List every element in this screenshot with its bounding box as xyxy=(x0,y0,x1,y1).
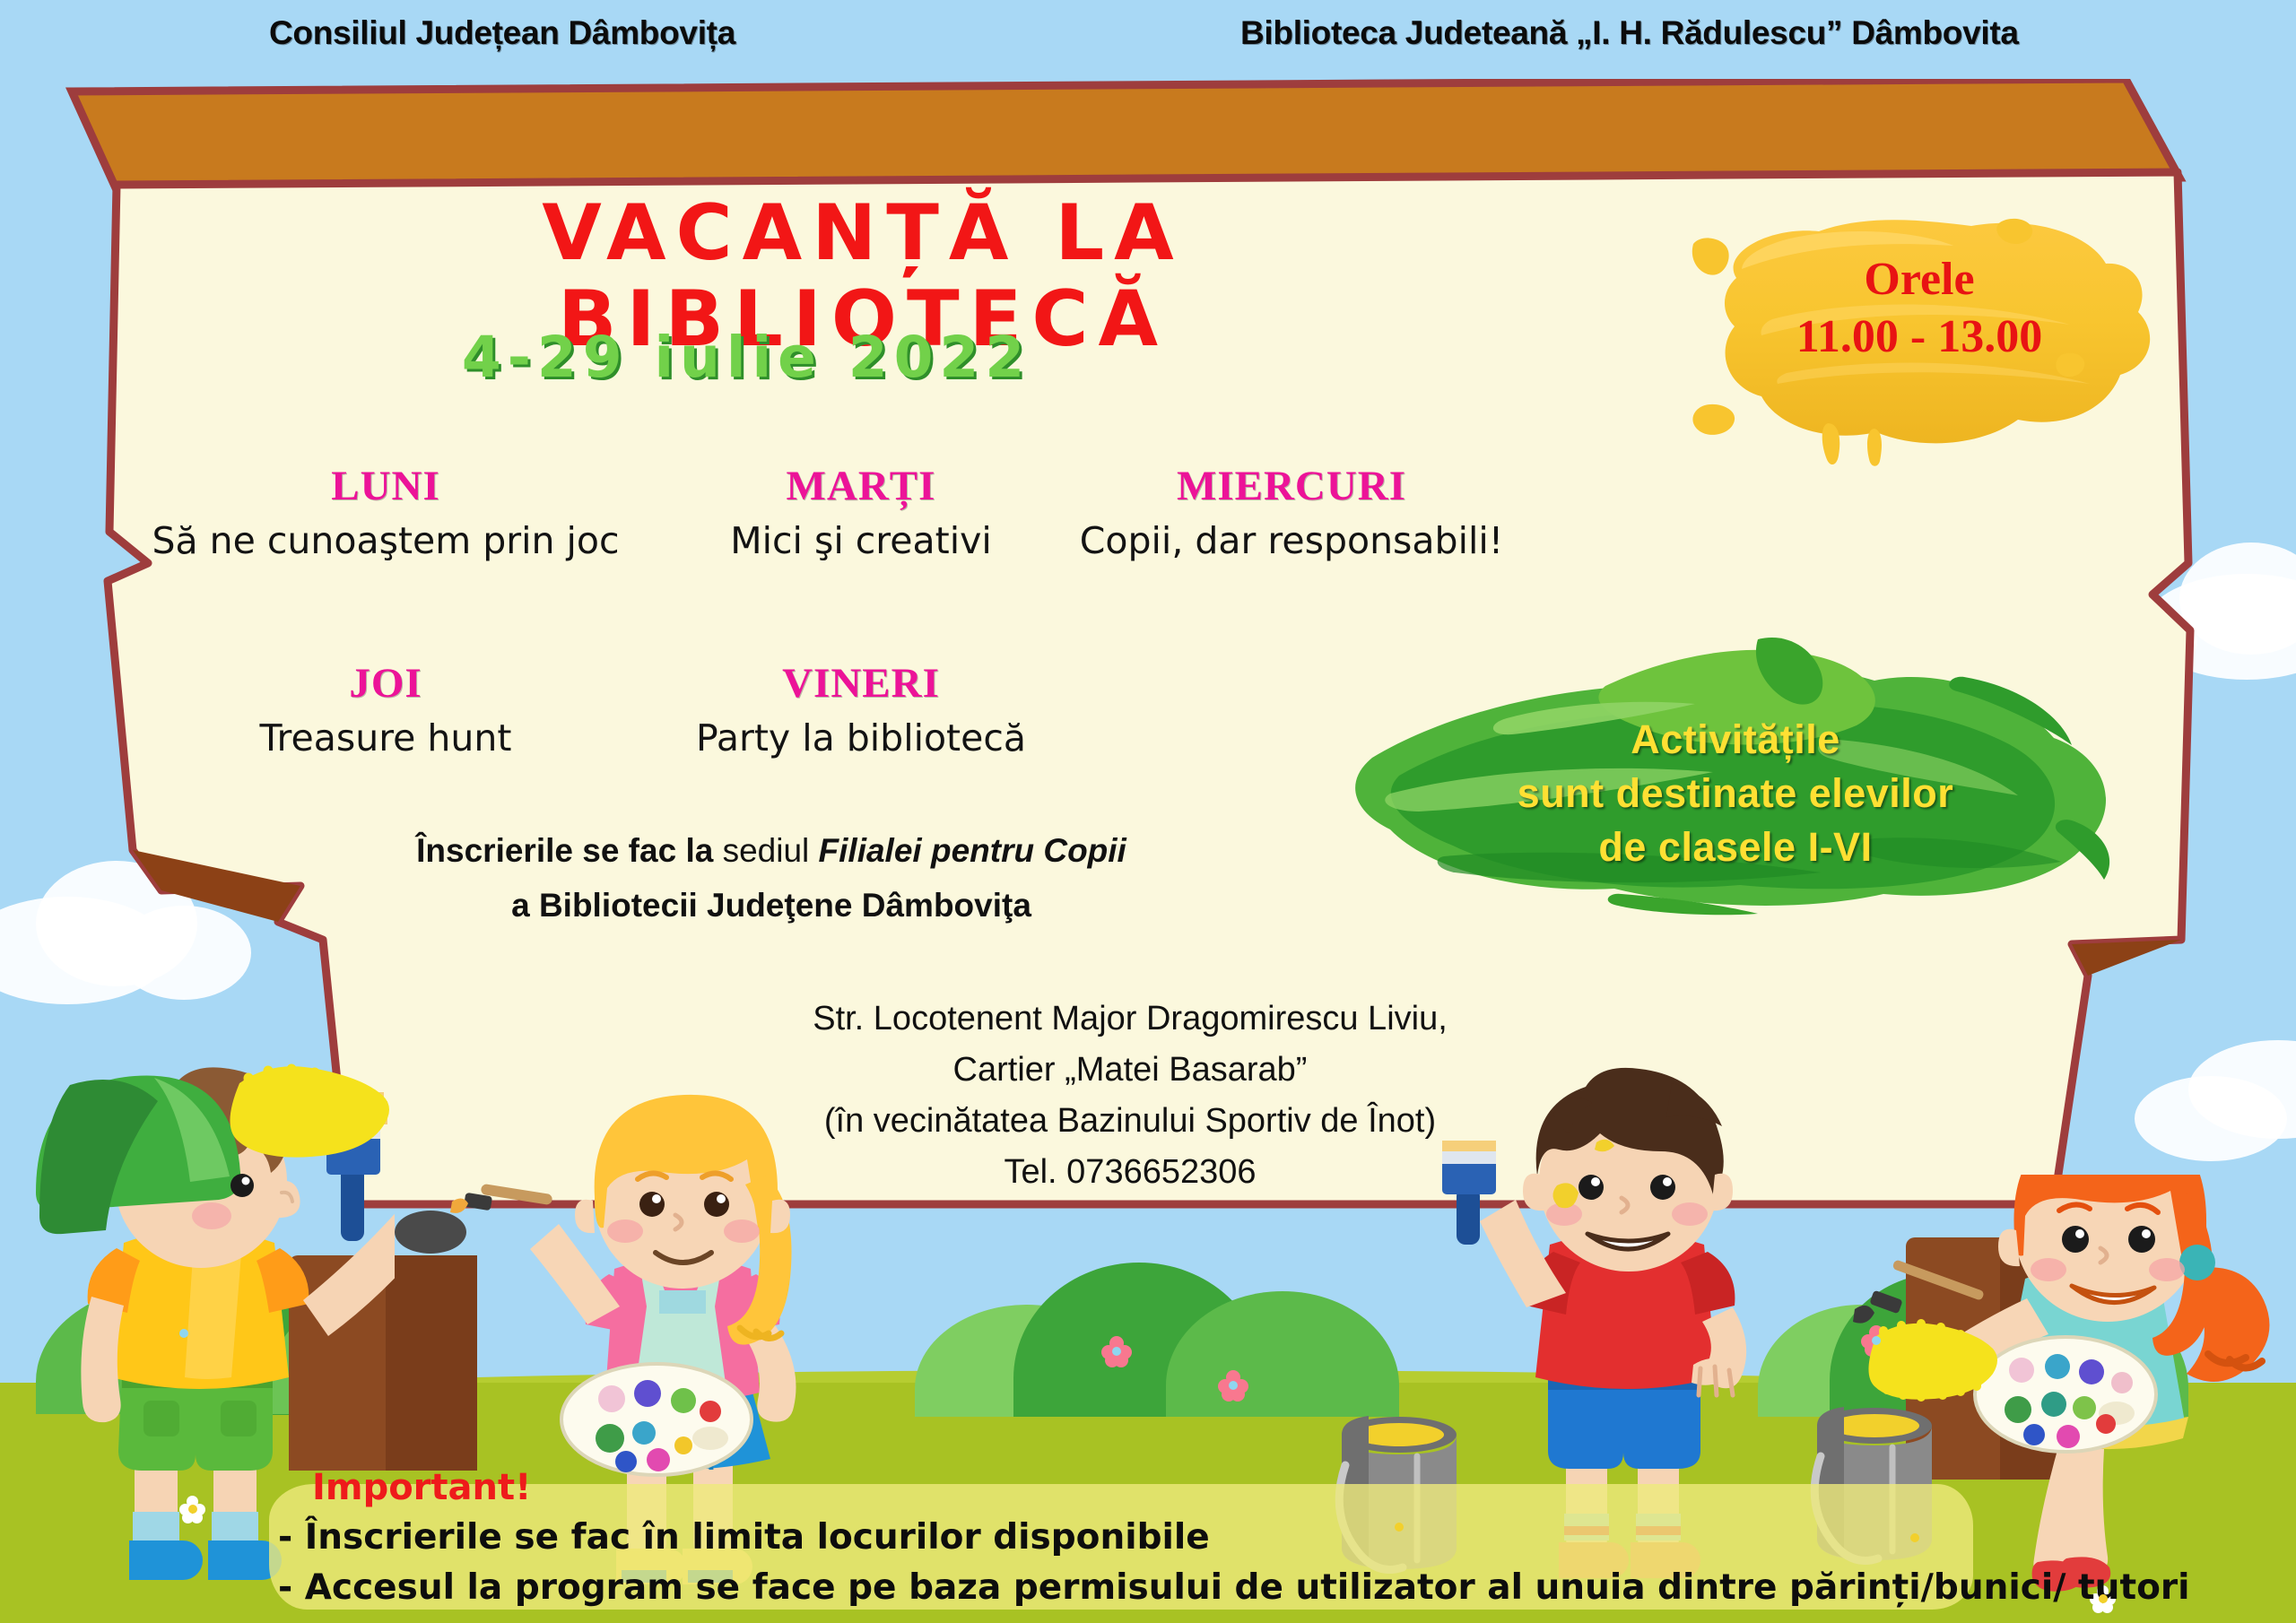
address-line-1: Str. Locotenent Major Dragomirescu Liviu… xyxy=(808,994,1452,1045)
day-name: VINERI xyxy=(664,659,1058,707)
important-line-1: - Înscrierile se fac în limita locurilor… xyxy=(278,1517,1210,1558)
audience-line-1: Activitățile xyxy=(1345,713,2126,767)
audience-text: Activitățile sunt destinate elevilor de … xyxy=(1345,713,2126,874)
day-activity: Treasure hunt xyxy=(108,716,664,759)
day-name: MARȚI xyxy=(664,462,1058,510)
registration-line-1: Înscrierile se fac la sediul Filialei pe… xyxy=(377,823,1166,878)
registration-line-1-bold: Înscrierile se fac la xyxy=(416,832,722,869)
yellow-paint-stroke-left xyxy=(229,1058,395,1166)
hours-value: 11.00 - 13.00 xyxy=(1731,308,2108,366)
paint-brush-girl-blonde xyxy=(448,1175,556,1237)
audience-line-3: de clasele I-VI xyxy=(1345,820,2126,874)
important-line-2: - Accesul la program se face pe baza per… xyxy=(278,1567,2189,1608)
day-name: LUNI xyxy=(108,462,664,510)
header-left-organization: Consiliul Județean Dâmbovița xyxy=(269,14,735,52)
schedule-item-marti: MARȚI Mici şi creativi xyxy=(664,462,1058,562)
schedule-item-luni: LUNI Să ne cunoaştem prin joc xyxy=(108,462,664,562)
day-activity: Copii, dar responsabili! xyxy=(1058,519,1525,562)
address-line-4-phone: Tel. 0736652306 xyxy=(999,1147,1260,1198)
paint-brush-blue-right xyxy=(1408,1139,1534,1246)
schedule-item-joi: JOI Treasure hunt xyxy=(108,659,664,759)
poster-canvas: Consiliul Județean Dâmbovița Biblioteca … xyxy=(0,0,2296,1623)
hours-label: Orele xyxy=(1731,251,2108,308)
day-activity: Să ne cunoaştem prin joc xyxy=(108,519,664,562)
paint-palette-girl-blonde xyxy=(558,1352,755,1487)
registration-line-1-italic: Filialei pentru Copii xyxy=(819,832,1126,869)
day-name: MIERCURI xyxy=(1058,462,1525,510)
address-block: Str. Locotenent Major Dragomirescu Liviu… xyxy=(789,994,1471,1198)
registration-line-2: a Bibliotecii Judeţene Dâmboviţa xyxy=(377,878,1166,933)
hours-text: Orele 11.00 - 13.00 xyxy=(1731,251,2108,367)
registration-block: Înscrierile se fac la sediul Filialei pe… xyxy=(377,823,1166,933)
address-line-3: (în vecinătatea Bazinului Sportiv de Îno… xyxy=(820,1096,1440,1147)
schedule-item-miercuri: MIERCURI Copii, dar responsabili! xyxy=(1058,462,1525,562)
audience-line-2: sunt destinate elevilor xyxy=(1345,767,2126,820)
day-activity: Mici şi creativi xyxy=(664,519,1058,562)
day-name: JOI xyxy=(108,659,664,707)
day-activity: Party la bibliotecă xyxy=(664,716,1058,759)
registration-line-1-regular: sediul xyxy=(723,832,819,869)
important-title: Important! xyxy=(312,1467,531,1508)
poster-content: Consiliul Județean Dâmbovița Biblioteca … xyxy=(0,0,2296,1623)
schedule-item-vineri: VINERI Party la bibliotecă xyxy=(664,659,1058,759)
poster-subtitle: 4-29 iulie 2022 xyxy=(253,325,1239,390)
header-right-organization: Biblioteca Judeteană „I. H. Rădulescu” D… xyxy=(1240,14,2019,52)
registration-line-2-text: a Bibliotecii Judeţene Dâmboviţa xyxy=(511,887,1031,924)
address-line-2: Cartier „Matei Basarab” xyxy=(949,1045,1312,1096)
